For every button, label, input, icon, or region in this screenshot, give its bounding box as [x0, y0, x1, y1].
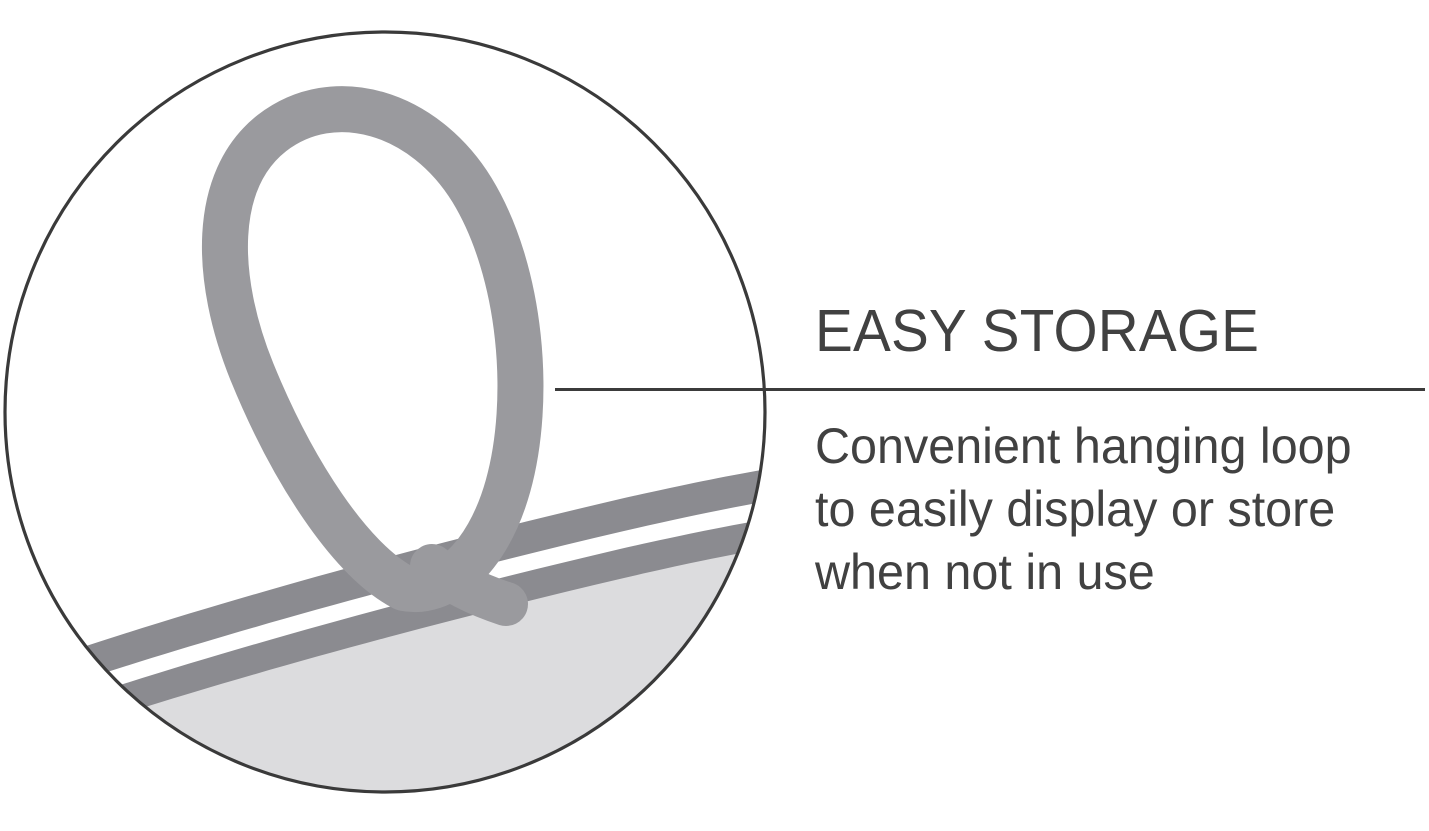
description-line-2: to easily display or store — [815, 478, 1402, 541]
page-title: EASY STORAGE — [815, 300, 1391, 362]
callout-text-block: EASY STORAGE — [815, 300, 1415, 362]
description-line-3: when not in use — [815, 541, 1402, 604]
horizontal-rule — [555, 388, 1425, 391]
callout-description: Convenient hanging loop to easily displa… — [815, 415, 1402, 604]
description-line-1: Convenient hanging loop — [815, 415, 1402, 478]
hanging-loop-detail-icon — [0, 0, 840, 831]
feature-callout-panel: EASY STORAGE Convenient hanging loop to … — [0, 0, 1429, 831]
illustration-container — [0, 0, 840, 831]
